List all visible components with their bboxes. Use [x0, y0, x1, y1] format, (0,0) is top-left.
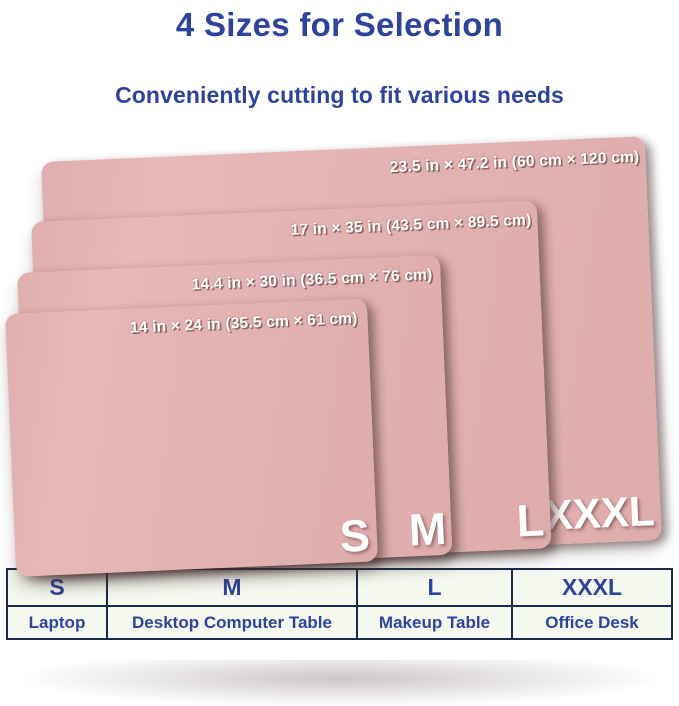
- product-size-illustration: 23.5 in × 47.2 in (60 cm × 120 cm) XXXL …: [0, 140, 679, 560]
- table-cell-code-m: M: [107, 569, 357, 606]
- table-cell-code-xxxl: XXXL: [512, 569, 672, 606]
- size-comparison-table: S M L XXXL Laptop Desktop Computer Table…: [6, 568, 673, 640]
- mat-xxxl-dimensions-label: 23.5 in × 47.2 in (60 cm × 120 cm): [389, 148, 639, 177]
- table-cell-code-l: L: [357, 569, 512, 606]
- page-title: 4 Sizes for Selection: [0, 6, 679, 44]
- mat-xxxl-size-code: XXXL: [544, 490, 655, 537]
- table-row-size-codes: S M L XXXL: [7, 569, 672, 606]
- mat-l-dimensions-label: 17 in × 35 in (43.5 cm × 89.5 cm): [290, 212, 532, 240]
- stack-drop-shadow: [20, 660, 660, 706]
- page-subtitle: Conveniently cutting to fit various need…: [0, 82, 679, 109]
- mat-s-size-code: S: [339, 513, 371, 559]
- mat-l-size-code: L: [516, 497, 545, 543]
- table-cell-use-xxxl: Office Desk: [512, 606, 672, 639]
- table-cell-use-s: Laptop: [7, 606, 107, 639]
- mat-m-dimensions-label: 14.4 in × 30 in (36.5 cm × 76 cm): [191, 266, 433, 294]
- mat-s-dimensions-label: 14 in × 24 in (35.5 cm × 61 cm): [130, 310, 358, 338]
- table-cell-use-l: Makeup Table: [357, 606, 512, 639]
- table-row-use-cases: Laptop Desktop Computer Table Makeup Tab…: [7, 606, 672, 639]
- mat-s: 14 in × 24 in (35.5 cm × 61 cm) S: [5, 299, 378, 577]
- mat-m-size-code: M: [408, 506, 447, 553]
- table-cell-use-m: Desktop Computer Table: [107, 606, 357, 639]
